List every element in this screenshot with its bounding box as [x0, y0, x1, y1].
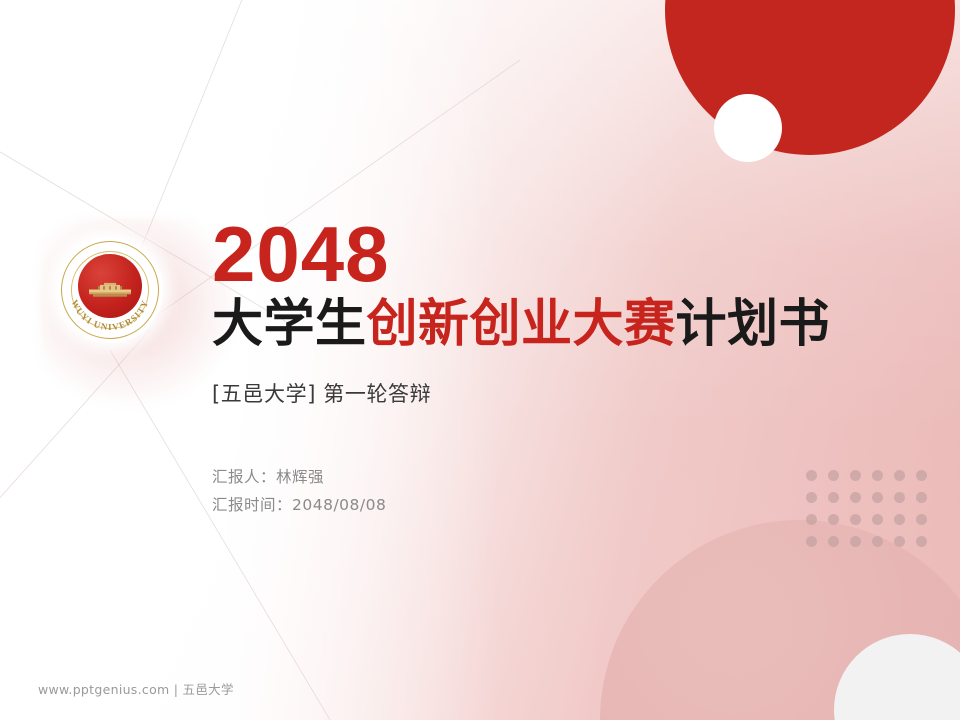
presentation-slide: 五 邑 大 学 WUYI UNIVERSITY: [0, 0, 960, 720]
page-title: 大学生创新创业大赛计划书: [212, 298, 912, 352]
year-heading: 2048: [212, 216, 912, 292]
footer-text: www.pptgenius.com | 五邑大学: [38, 679, 234, 698]
meta-block: 汇报人：林辉强 汇报时间：2048/08/08: [212, 464, 912, 518]
title-segment-prefix: 大学生: [212, 295, 367, 354]
title-segment-accent: 创新创业大赛: [367, 295, 676, 354]
university-logo: 五 邑 大 学 WUYI UNIVERSITY: [57, 237, 163, 343]
presenter-line: 汇报人：林辉强: [212, 464, 912, 491]
subtitle: [五邑大学] 第一轮答辩: [212, 378, 912, 408]
title-segment-suffix: 计划书: [676, 295, 831, 354]
emblem-english-arc-text: WUYI UNIVERSITY: [57, 237, 163, 343]
report-time-line: 汇报时间：2048/08/08: [212, 492, 912, 519]
emblem-university-name: WUYI UNIVERSITY: [69, 298, 150, 332]
white-circle-decoration-top: [714, 94, 782, 162]
svg-text:WUYI UNIVERSITY: WUYI UNIVERSITY: [69, 298, 150, 332]
title-text-block: 2048 大学生创新创业大赛计划书 [五邑大学] 第一轮答辩 汇报人：林辉强 汇…: [212, 216, 912, 519]
